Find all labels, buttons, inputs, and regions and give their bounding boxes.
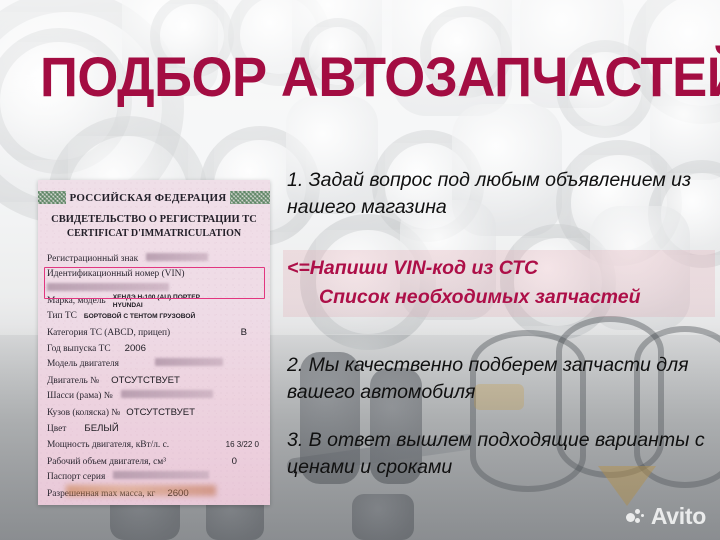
document-row: Паспорт серия: [47, 470, 261, 485]
field-label: Масса без нагрузки, кг: [47, 503, 138, 505]
field-value: ОТСУТСТВУЕТ: [126, 405, 195, 420]
redacted-value: [121, 390, 213, 398]
page-title: ПОДБОР АВТОЗАПЧАСТЕЙ: [40, 48, 720, 106]
document-row: Марка, модель ХЕНДЭ Н-100 (AU) ПОРТЕР HY…: [47, 294, 261, 309]
guilloche-pattern-icon: [38, 191, 66, 204]
document-row: Цвет БЕЛЫЙ: [47, 421, 261, 437]
document-row: Категория ТС (ABCD, прицеп) B: [47, 325, 261, 341]
field-value: 16 3/22 0: [226, 437, 259, 452]
document-row: Двигатель № ОТСУТСТВУЕТ: [47, 373, 261, 389]
document-row: Идентификационный номер (VIN): [47, 267, 261, 282]
redacted-value: [146, 253, 208, 261]
guilloche-pattern-icon: [230, 191, 270, 204]
field-value: БОРТОВОЙ С ТЕНТОМ ГРУЗОВОЙ: [84, 313, 195, 320]
field-value: 1895: [152, 502, 173, 505]
document-title-ru: СВИДЕТЕЛЬСТВО О РЕГИСТРАЦИИ ТС: [38, 213, 270, 227]
field-value: ОТСУТСТВУЕТ: [111, 373, 180, 388]
field-label: Марка, модель: [47, 294, 106, 309]
field-value: БЕЛЫЙ: [84, 421, 118, 436]
redacted-value: [47, 283, 169, 291]
document-title-fr: CERTIFICAT D'IMMATRICULATION: [38, 227, 270, 241]
avito-watermark: Avito: [626, 505, 706, 528]
vin-callout-line-1: <=Напиши VIN-код из СТС: [287, 254, 711, 283]
redacted-value: [113, 471, 209, 479]
field-label: Двигатель №: [47, 374, 99, 389]
avito-logo-icon: [626, 507, 646, 527]
redacted-value: [155, 358, 223, 366]
document-row: Мощность двигателя, кВт/л. с. 16 3/22 0: [47, 437, 261, 453]
redacted-date: [66, 485, 216, 496]
field-value: ХЕНДЭ Н-100 (AU) ПОРТЕР HYUNDAI: [113, 294, 205, 309]
field-label: Паспорт серия: [47, 470, 105, 485]
vin-callout-line-2: Список необходимых запчастей: [287, 283, 711, 312]
field-label: Модель двигателя: [47, 357, 119, 372]
field-label: Год выпуска ТС: [47, 342, 111, 357]
document-row: [47, 283, 261, 291]
field-label: Шасси (рама) №: [47, 389, 113, 404]
field-label: Мощность двигателя, кВт/л. с.: [47, 438, 169, 453]
document-country: РОССИЙСКАЯ ФЕДЕРАЦИЯ: [70, 192, 227, 204]
document-row: Тип ТС БОРТОВОЙ С ТЕНТОМ ГРУЗОВОЙ: [47, 309, 261, 324]
field-label: Тип ТС: [47, 309, 77, 324]
poster: ПОДБОР АВТОЗАПЧАСТЕЙ 1. Задай вопрос под…: [0, 0, 720, 540]
field-value: 2006: [125, 341, 146, 356]
document-row: Рабочий объем двигателя, см³ 0: [47, 454, 261, 470]
vehicle-registration-certificate: РОССИЙСКАЯ ФЕДЕРАЦИЯ СВИДЕТЕЛЬСТВО О РЕГ…: [38, 180, 270, 505]
document-header: РОССИЙСКАЯ ФЕДЕРАЦИЯ: [46, 191, 262, 204]
step-2-text: 2. Мы качественно подберем запчасти для …: [287, 352, 705, 406]
field-label: Кузов (коляска) №: [47, 406, 120, 421]
step-3-text: 3. В ответ вышлем подходящие варианты с …: [287, 427, 705, 481]
field-label: Рабочий объем двигателя, см³: [47, 455, 166, 470]
vin-callout: <=Напиши VIN-код из СТС Список необходим…: [283, 250, 715, 317]
field-value: B: [241, 325, 247, 340]
document-row: Шасси (рама) №: [47, 389, 261, 404]
field-label: Цвет: [47, 422, 66, 437]
document-row: Масса без нагрузки, кг 1895: [47, 502, 261, 505]
document-row: Кузов (коляска) № ОТСУТСТВУЕТ: [47, 405, 261, 421]
field-label: Идентификационный номер (VIN): [47, 267, 184, 282]
document-row: Регистрационный знак: [47, 252, 261, 267]
step-1-text: 1. Задай вопрос под любым объявлением из…: [287, 167, 705, 221]
document-field-list: Регистрационный знак Идентификационный н…: [47, 252, 261, 505]
document-title: СВИДЕТЕЛЬСТВО О РЕГИСТРАЦИИ ТС CERTIFICA…: [38, 213, 270, 241]
field-value: 0: [232, 454, 237, 469]
field-label: Регистрационный знак: [47, 252, 138, 267]
avito-wordmark: Avito: [651, 505, 706, 528]
field-label: Категория ТС (ABCD, прицеп): [47, 326, 170, 341]
document-row: Модель двигателя: [47, 357, 261, 372]
document-row: Год выпуска ТС 2006: [47, 341, 261, 357]
